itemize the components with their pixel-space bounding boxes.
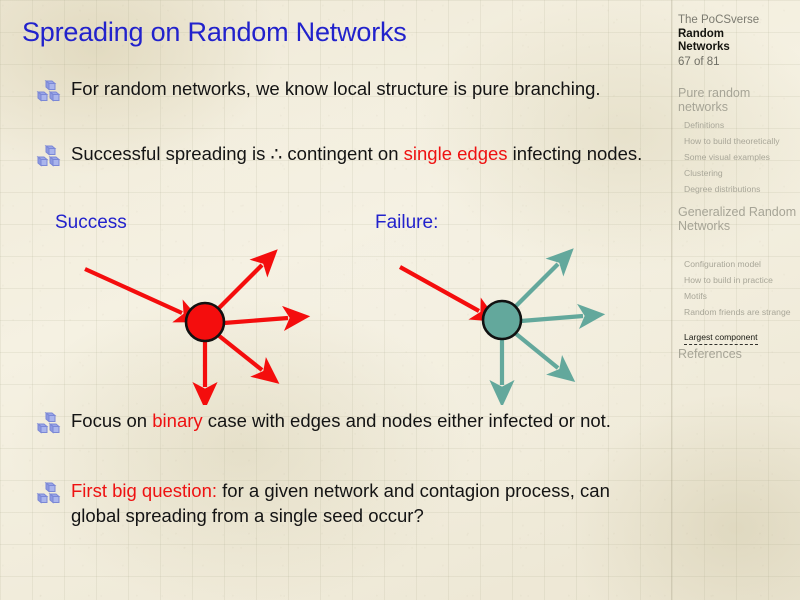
sidebar-item-how-to-build-theoretically[interactable]: How to build theoretically <box>684 136 800 147</box>
main-content: For random networks, we know local struc… <box>0 0 672 600</box>
bullet-item-1: For random networks, we know local struc… <box>36 76 650 104</box>
failure-outgoing-edge-2 <box>521 316 583 321</box>
sidebar-deck-title-line1: Random <box>678 28 798 42</box>
failure-caption: Failure: <box>375 212 438 234</box>
bullet-text-1: For random networks, we know local struc… <box>71 76 601 101</box>
sidebar-item-references[interactable]: References <box>678 347 800 361</box>
sidebar-item-largest-component[interactable]: Largest component <box>684 332 758 345</box>
cubes-bullet-icon <box>36 412 62 436</box>
sidebar-item-configuration-model[interactable]: Configuration model <box>684 259 800 270</box>
bullet-2-highlight: single edges <box>404 143 508 164</box>
success-incoming-edge <box>85 269 182 313</box>
sidebar-item-motifs[interactable]: Motifs <box>684 291 800 302</box>
failure-incoming-edge <box>400 267 479 311</box>
sidebar-brand-block: The PoCSverse Random Networks 67 of 81 <box>678 14 798 69</box>
bullet-4-highlight: First big question: <box>71 480 217 501</box>
bullet-text-4: First big question: for a given network … <box>71 478 650 528</box>
success-outgoing-edge-2 <box>224 318 288 323</box>
failure-outgoing-edge-3 <box>515 333 558 368</box>
bullet-item-3: Focus on binary case with edges and node… <box>36 408 650 436</box>
sidebar-item-degree-distributions[interactable]: Degree distributions <box>684 184 800 195</box>
bullet-text-3: Focus on binary case with edges and node… <box>71 408 611 433</box>
sidebar-item-some-visual-examples[interactable]: Some visual examples <box>684 152 800 163</box>
cubes-bullet-icon <box>36 145 62 169</box>
sidebar: The PoCSverse Random Networks 67 of 81 P… <box>672 0 800 600</box>
slide-canvas: Spreading on Random Networks <box>0 0 800 600</box>
cubes-bullet-icon <box>36 80 62 104</box>
bullet-text-2: Successful spreading is ∴ contingent on … <box>71 141 642 166</box>
sidebar-item-how-to-build-in-practice[interactable]: How to build in practice <box>684 275 800 286</box>
failure-diagram-group <box>400 264 583 385</box>
spreading-diagram <box>0 245 672 405</box>
bullet-item-2: Successful spreading is ∴ contingent on … <box>36 141 650 169</box>
success-node <box>186 303 224 341</box>
failure-outgoing-edge-1 <box>515 264 558 307</box>
sidebar-item-definitions[interactable]: Definitions <box>684 120 800 131</box>
sidebar-section-generalized-random-networks[interactable]: Generalized Random Networks <box>678 205 800 233</box>
sidebar-item-clustering[interactable]: Clustering <box>684 168 800 179</box>
bullet-item-4: First big question: for a given network … <box>36 478 650 528</box>
sidebar-section-pure-random-networks[interactable]: Pure random networks <box>678 86 800 114</box>
failure-node <box>483 301 521 339</box>
success-outgoing-edge-3 <box>218 335 262 370</box>
bullet-3-highlight: binary <box>152 410 202 431</box>
success-diagram-group <box>85 265 288 387</box>
cubes-bullet-icon <box>36 482 62 506</box>
sidebar-brand: The PoCSverse <box>678 14 798 28</box>
sidebar-page-indicator: 67 of 81 <box>678 56 798 70</box>
success-outgoing-edge-1 <box>218 265 262 309</box>
sidebar-item-random-friends-are-strange[interactable]: Random friends are strange <box>684 307 800 318</box>
success-caption: Success <box>55 212 127 234</box>
sidebar-deck-title-line2: Networks <box>678 41 798 55</box>
